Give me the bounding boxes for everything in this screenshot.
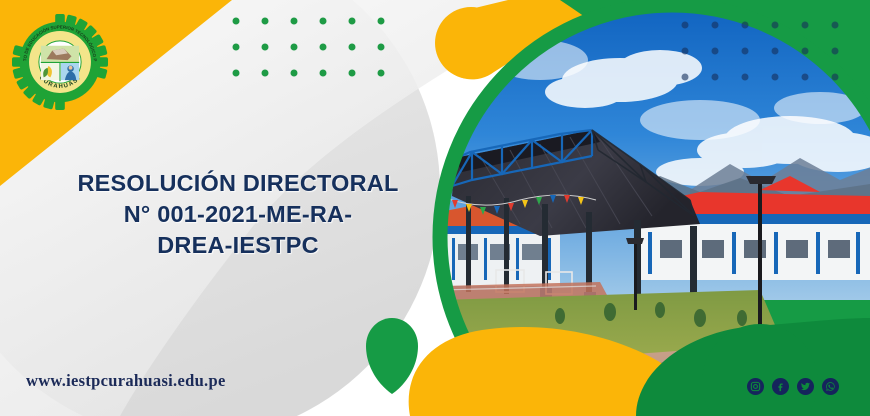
page-title: RESOLUCIÓN DIRECTORAL N° 001-2021-ME-RA-…	[58, 168, 418, 261]
instagram-icon[interactable]	[747, 378, 764, 395]
title-line-3: DREA-IESTPC	[58, 230, 418, 261]
title-line-1: RESOLUCIÓN DIRECTORAL	[58, 168, 418, 199]
website-url[interactable]: www.iestpcurahuasi.edu.pe	[26, 371, 226, 391]
whatsapp-icon[interactable]	[822, 378, 839, 395]
gear-emblem-icon: INSTITUTO DE EDUCACIÓN SUPERIOR TECNOLÓG…	[12, 14, 108, 110]
social-links	[747, 378, 839, 395]
resolution-banner: INSTITUTO DE EDUCACIÓN SUPERIOR TECNOLÓG…	[0, 0, 870, 416]
twitter-icon[interactable]	[797, 378, 814, 395]
facebook-icon[interactable]	[772, 378, 789, 395]
institution-logo: INSTITUTO DE EDUCACIÓN SUPERIOR TECNOLÓG…	[12, 14, 108, 110]
title-line-2: N° 001-2021-ME-RA-	[58, 199, 418, 230]
